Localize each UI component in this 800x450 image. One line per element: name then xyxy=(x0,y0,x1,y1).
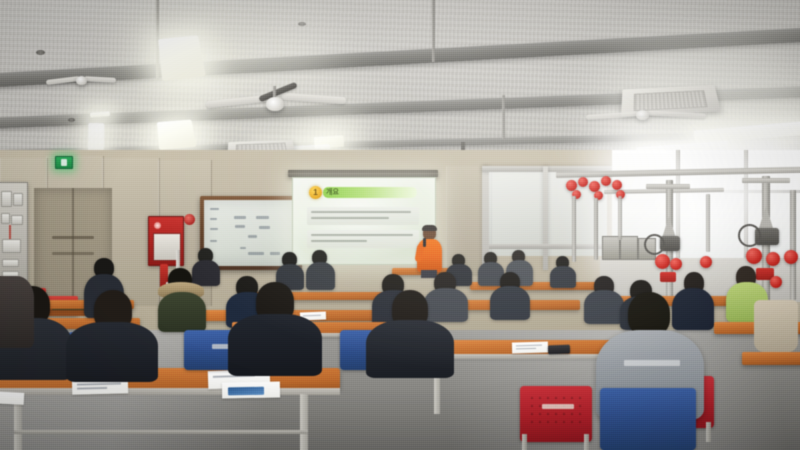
fan-blade xyxy=(586,111,642,120)
riser-cross-pipe xyxy=(742,178,790,183)
attendee-body-fg-2 xyxy=(66,322,158,382)
chair-red-1[interactable] xyxy=(520,386,592,442)
riser-red-valve xyxy=(670,258,682,270)
riser-assembly-c xyxy=(782,190,800,300)
fan-hub xyxy=(76,76,87,85)
attendee-body xyxy=(584,290,624,324)
hoodie-print xyxy=(624,360,680,366)
mid-pipe-1 xyxy=(618,196,622,240)
attendee-body xyxy=(424,288,468,322)
whiteboard-note xyxy=(270,252,280,255)
sprinkler-head-1 xyxy=(36,50,45,55)
slide-body-block-2 xyxy=(307,230,419,248)
paper-text-line xyxy=(77,387,107,389)
attendee-body xyxy=(550,266,576,288)
chair-leg xyxy=(522,434,527,450)
riser-handwheel xyxy=(738,224,761,247)
fan-hub xyxy=(636,110,649,120)
board-component-2 xyxy=(13,193,23,206)
whiteboard-note xyxy=(234,216,246,219)
classroom-photo: 1 개요 xyxy=(0,0,800,450)
handout-far-left-edge xyxy=(0,391,24,405)
desk-crossbar xyxy=(14,430,308,434)
partition-post-mid xyxy=(543,166,548,270)
ceiling-light-panel-2 xyxy=(157,120,197,150)
control-box-2 xyxy=(620,236,638,260)
paper-text-line xyxy=(516,345,542,347)
whiteboard-note xyxy=(256,216,269,219)
whiteboard-note xyxy=(210,240,217,242)
riser-red-valve xyxy=(784,250,798,264)
whiteboard-note xyxy=(248,252,264,255)
hanger-rod-3 xyxy=(502,95,505,139)
riser-red-valve xyxy=(655,254,670,269)
board-component-6 xyxy=(2,259,19,267)
chair-leg xyxy=(706,422,711,442)
fire-alarm-bell xyxy=(184,214,195,225)
sprinkler-drop-pipe-1 xyxy=(572,196,576,262)
desk-leg xyxy=(300,394,308,450)
chair-blue-near-right[interactable] xyxy=(600,388,696,450)
attendee-body xyxy=(306,262,335,290)
smartphone-on-desk xyxy=(548,345,570,355)
attendee-body-dark xyxy=(672,288,714,330)
handout-center xyxy=(512,342,548,354)
riser-red-valve xyxy=(766,252,780,266)
desk-right-2 xyxy=(742,352,800,365)
whiteboard-note xyxy=(240,247,246,249)
whiteboard-note xyxy=(259,226,270,229)
chair-leg xyxy=(584,434,589,450)
riser-red-valve xyxy=(746,248,762,264)
riser-red-valve xyxy=(770,276,782,288)
fan-blade xyxy=(282,93,346,104)
exit-sign xyxy=(55,156,73,169)
sprinkler-head xyxy=(601,176,611,186)
paper-text-line xyxy=(77,382,121,385)
mid-red-valve xyxy=(700,256,712,268)
board-component-4 xyxy=(11,215,23,225)
ceiling-fan-center xyxy=(206,86,346,120)
board-component-5 xyxy=(2,239,21,253)
riser-manifold xyxy=(660,272,676,282)
ceiling-fan-right xyxy=(586,105,706,127)
board-component-1 xyxy=(1,191,12,207)
whiteboard-note xyxy=(210,208,219,210)
riser-pipe xyxy=(790,190,796,300)
slide-text-line xyxy=(311,234,413,236)
coat-draped xyxy=(754,300,798,352)
exit-sign-figure xyxy=(61,159,67,166)
alarm-indicator-light xyxy=(154,222,161,229)
handout-booklet xyxy=(222,381,280,398)
attendee-body-fg-edge xyxy=(0,276,34,348)
chair-perforations xyxy=(528,394,584,426)
slide-text-line xyxy=(311,217,389,219)
presenter-cap xyxy=(422,225,437,231)
sprinkler-head xyxy=(578,177,588,187)
paper-text-line xyxy=(303,315,321,317)
attendee-body-parka xyxy=(158,292,206,332)
mid-pipe-2 xyxy=(706,194,710,252)
attendee-body xyxy=(490,286,530,320)
sprinkler-head-2 xyxy=(68,118,75,122)
hanger-rod-2 xyxy=(432,0,435,62)
whiteboard-note xyxy=(248,235,257,238)
riser-cone-strainer xyxy=(759,206,773,228)
slide-text-line xyxy=(311,211,411,213)
attendee-body-fg-4 xyxy=(366,320,454,378)
sprinkler-head xyxy=(612,180,622,190)
desk-foreground-edge xyxy=(0,388,340,395)
partition-shelf xyxy=(489,244,607,249)
chair-label xyxy=(542,404,574,409)
microphone xyxy=(423,238,426,247)
sprinkler-head-3 xyxy=(298,22,306,26)
board-wire xyxy=(9,225,11,239)
riser-cone-strainer xyxy=(662,216,676,238)
whiteboard-note xyxy=(210,228,218,230)
fan-blade xyxy=(84,76,116,83)
riser-handwheel xyxy=(644,234,665,255)
board-component-3 xyxy=(1,213,10,224)
slide-number-badge: 1 xyxy=(309,186,322,199)
ceiling-fan-left xyxy=(46,72,116,90)
paper-text-line xyxy=(516,348,536,350)
sprinkler-drop-pipe-2 xyxy=(594,198,598,260)
booklet-cover-art xyxy=(228,387,264,396)
whiteboard-note xyxy=(235,225,245,228)
attendee-body-fg-3 xyxy=(228,314,322,376)
ceiling-light-panel-1 xyxy=(158,35,206,81)
whiteboard-note xyxy=(210,218,217,220)
riser-cross-pipe xyxy=(646,184,690,189)
presenter xyxy=(414,226,444,276)
slide-body-block-1 xyxy=(307,207,419,225)
fan-hub xyxy=(266,97,284,111)
projection-screen-rail xyxy=(288,170,438,177)
slide-text-line xyxy=(311,240,367,242)
fan-blade xyxy=(648,110,706,118)
attendee-body xyxy=(192,260,220,286)
door-split xyxy=(72,188,74,304)
slide-title: 개요 xyxy=(326,188,366,197)
